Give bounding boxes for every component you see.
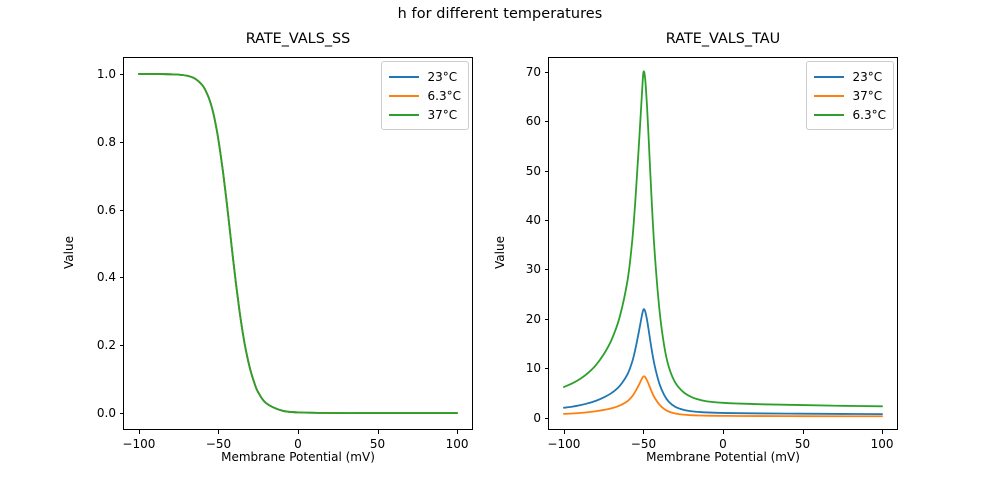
legend-label: 6.3°C [853,108,886,122]
ytick-mark [545,319,549,320]
ytick-mark [120,142,124,143]
ytick-mark [545,368,549,369]
figure-suptitle: h for different temperatures [0,6,1000,22]
legend-item[interactable]: 23°C [389,67,461,86]
ytick-label: 50 [526,164,541,178]
axes-right-title: RATE_VALS_TAU [548,31,898,47]
ytick-mark [545,418,549,419]
axes-rate-vals-ss: RATE_VALS_SS −100−500501000.00.20.40.60.… [123,57,473,430]
xtick-mark [882,430,883,434]
ytick-mark [545,121,549,122]
xtick-label: 0 [294,437,302,451]
legend-item[interactable]: 37°C [389,105,461,124]
xtick-label: −50 [206,437,231,451]
xtick-label: 100 [446,437,469,451]
xtick-mark [298,430,299,434]
ytick-label: 20 [526,312,541,326]
legend-line-swatch [814,95,844,97]
legend-label: 23°C [853,70,883,84]
legend-item[interactable]: 6.3°C [814,105,886,124]
legend-line-swatch [814,114,844,116]
legend-item[interactable]: 23°C [814,67,886,86]
legend-line-swatch [389,76,419,78]
legend-label: 23°C [428,70,458,84]
xtick-mark [564,430,565,434]
ytick-label: 30 [526,262,541,276]
line-series-37C [564,376,882,416]
axes-right-xlabel: Membrane Potential (mV) [548,450,898,464]
xtick-mark [457,430,458,434]
ytick-label: 0 [533,411,541,425]
xtick-label: −100 [547,437,580,451]
ytick-label: 0.0 [97,406,116,420]
xtick-mark [723,430,724,434]
ytick-mark [120,345,124,346]
axes-left-ylabel: Value [62,236,76,269]
xtick-mark [643,430,644,434]
ytick-label: 0.8 [97,135,116,149]
ytick-label: 0.2 [97,338,116,352]
ytick-mark [545,269,549,270]
axes-left-xlabel: Membrane Potential (mV) [123,450,473,464]
xtick-label: −50 [631,437,656,451]
xtick-label: 50 [370,437,385,451]
matplotlib-figure: h for different temperatures RATE_VALS_S… [0,0,1000,500]
ytick-label: 60 [526,114,541,128]
ytick-mark [120,210,124,211]
xtick-mark [378,430,379,434]
xtick-mark [139,430,140,434]
xtick-label: 0 [719,437,727,451]
legend-line-swatch [389,95,419,97]
ytick-mark [545,220,549,221]
legend-item[interactable]: 37°C [814,86,886,105]
xtick-label: 100 [871,437,894,451]
ytick-label: 1.0 [97,67,116,81]
legend-line-swatch [814,76,844,78]
legend-label: 37°C [428,108,458,122]
legend-item[interactable]: 6.3°C [389,86,461,105]
line-series-23C [564,309,882,414]
ytick-mark [545,72,549,73]
axes-right-legend[interactable]: 23°C37°C6.3°C [806,61,894,130]
axes-left-title: RATE_VALS_SS [123,31,473,47]
ytick-mark [545,171,549,172]
ytick-mark [120,277,124,278]
xtick-label: −100 [122,437,155,451]
axes-right-ylabel: Value [493,236,507,269]
xtick-mark [803,430,804,434]
ytick-mark [120,74,124,75]
legend-line-swatch [389,114,419,116]
ytick-label: 40 [526,213,541,227]
legend-label: 6.3°C [428,89,461,103]
ytick-label: 0.4 [97,270,116,284]
ytick-label: 0.6 [97,203,116,217]
xtick-mark [218,430,219,434]
axes-left-legend[interactable]: 23°C6.3°C37°C [381,61,469,130]
legend-label: 37°C [853,89,883,103]
ytick-label: 70 [526,65,541,79]
axes-rate-vals-tau: RATE_VALS_TAU −100−500501000102030405060… [548,57,898,430]
ytick-mark [120,413,124,414]
xtick-label: 50 [795,437,810,451]
ytick-label: 10 [526,361,541,375]
